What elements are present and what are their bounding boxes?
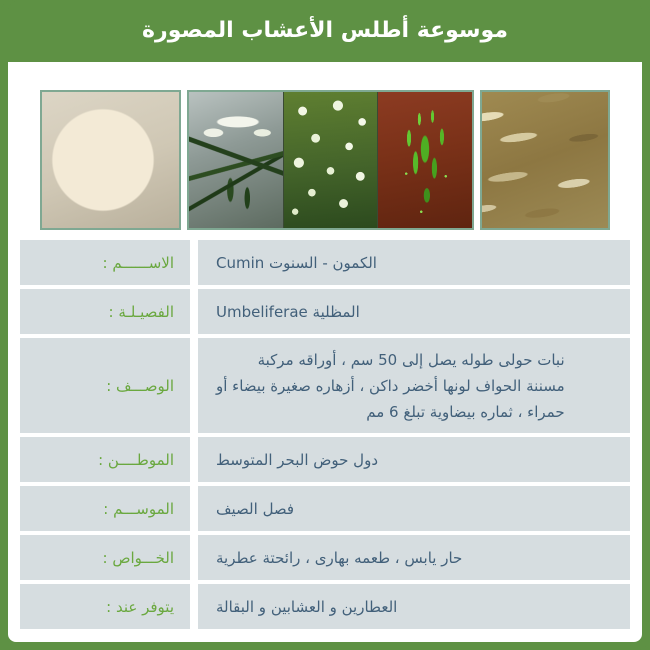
cumin-flowers-field-photo[interactable] bbox=[284, 92, 379, 228]
availability-label: يتوفر عند : bbox=[20, 584, 190, 629]
description-line: حمراء ، ثماره بيضاوية تبلغ 6 مم bbox=[216, 399, 565, 425]
family-value: المظلية Umbeliferae bbox=[198, 289, 630, 334]
powder-texture bbox=[59, 113, 147, 201]
habitat-label: الموطــــن : bbox=[20, 437, 190, 482]
name-label: الاســــــم : bbox=[20, 240, 190, 285]
card-header: موسوعة أطلس الأعشاب المصورة bbox=[8, 0, 642, 62]
cumin-umbel-closeup-photo[interactable] bbox=[189, 92, 284, 228]
ground-cumin-bowl-photo[interactable] bbox=[40, 92, 179, 228]
card-body: الكمون - السنوت Cumin الاســــــم : المظ… bbox=[8, 62, 642, 642]
description-lines: نبات حولى طوله يصل إلى 50 سم ، أوراقه مر… bbox=[216, 347, 565, 425]
family-label: الفصيـلـة : bbox=[20, 289, 190, 334]
name-value: الكمون - السنوت Cumin bbox=[198, 240, 630, 285]
cumin-seeds-photo[interactable] bbox=[480, 92, 608, 228]
table-row: المظلية Umbeliferae الفصيـلـة : bbox=[20, 289, 630, 334]
description-line: مسننة الحواف لونها أخضر داكن ، أزهاره صغ… bbox=[216, 373, 565, 399]
cumin-plant-photo[interactable] bbox=[378, 92, 472, 228]
table-row: فصل الصيف الموســـم : bbox=[20, 486, 630, 531]
properties-value: حار يابس ، طعمه بهارى ، رائحتة عطرية bbox=[198, 535, 630, 580]
description-label: الوصـــف : bbox=[20, 338, 190, 433]
season-label: الموســـم : bbox=[20, 486, 190, 531]
table-row: دول حوض البحر المتوسط الموطــــن : bbox=[20, 437, 630, 482]
table-row: نبات حولى طوله يصل إلى 50 سم ، أوراقه مر… bbox=[20, 338, 630, 433]
availability-value: العطارين و العشابين و البقالة bbox=[198, 584, 630, 629]
herb-card: موسوعة أطلس الأعشاب المصورة الكمون - الس… bbox=[0, 0, 650, 650]
herb-info-table: الكمون - السنوت Cumin الاســــــم : المظ… bbox=[20, 240, 630, 629]
properties-label: الخـــواص : bbox=[20, 535, 190, 580]
gallery-photo-5-frame[interactable] bbox=[40, 90, 181, 230]
description-value: نبات حولى طوله يصل إلى 50 سم ، أوراقه مر… bbox=[198, 338, 630, 433]
table-row: الكمون - السنوت Cumin الاســــــم : bbox=[20, 240, 630, 285]
table-row: حار يابس ، طعمه بهارى ، رائحتة عطرية الخ… bbox=[20, 535, 630, 580]
page-title: موسوعة أطلس الأعشاب المصورة bbox=[142, 20, 508, 42]
photo-gallery bbox=[40, 90, 610, 230]
habitat-value: دول حوض البحر المتوسط bbox=[198, 437, 630, 482]
table-row: العطارين و العشابين و البقالة يتوفر عند … bbox=[20, 584, 630, 629]
season-value: فصل الصيف bbox=[198, 486, 630, 531]
gallery-photo-group bbox=[187, 90, 474, 230]
description-line: نبات حولى طوله يصل إلى 50 سم ، أوراقه مر… bbox=[216, 347, 565, 373]
gallery-photo-1-frame[interactable] bbox=[480, 90, 610, 230]
